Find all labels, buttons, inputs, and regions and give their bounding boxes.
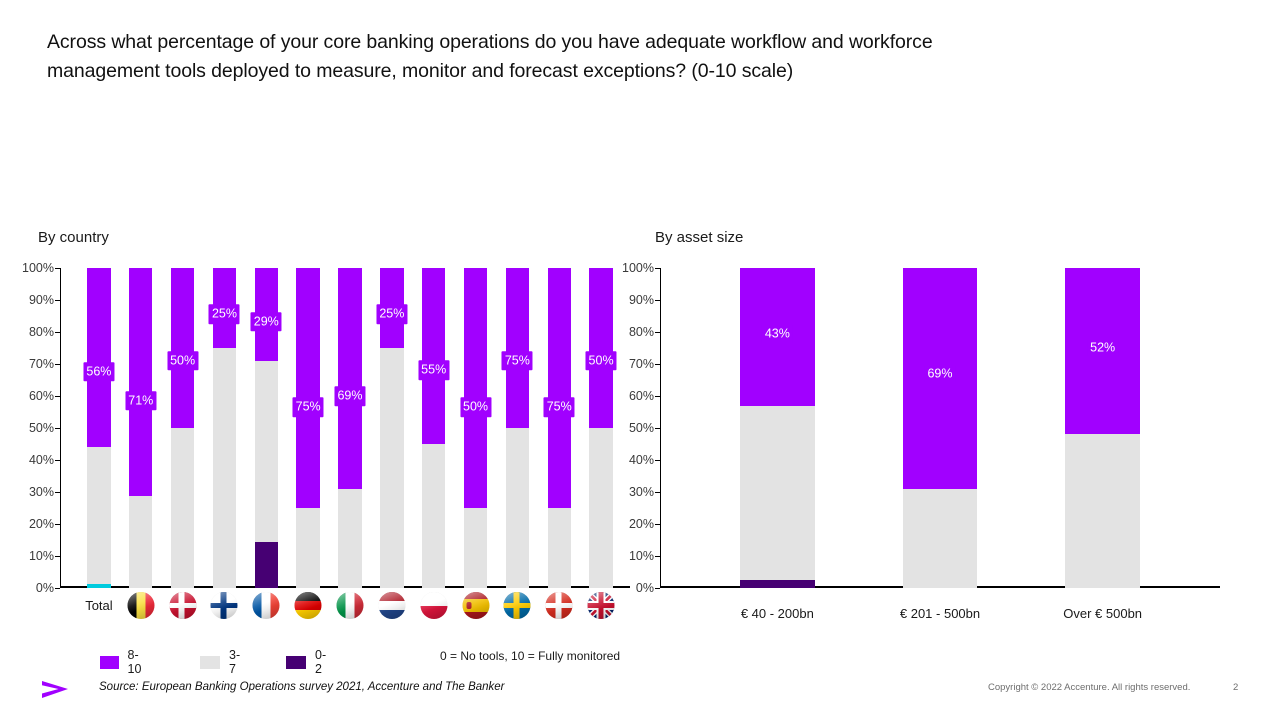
y-axis-tick <box>655 332 660 333</box>
y-axis-tick-label: 70% <box>29 357 54 371</box>
bar-segment-3-7 <box>255 361 278 542</box>
bar-column[interactable] <box>338 268 361 588</box>
country-axis-flags: Total <box>60 592 630 624</box>
x-axis-category-label: € 40 - 200bn <box>741 606 814 621</box>
y-axis-tick-label: 0% <box>36 581 54 595</box>
y-axis-tick-label: 100% <box>622 261 654 275</box>
flag-finland[interactable] <box>211 592 238 619</box>
bar-column[interactable] <box>506 268 529 588</box>
y-axis-tick-label: 0% <box>636 581 654 595</box>
bar-segment-8-10 <box>464 268 487 508</box>
y-axis-tick-label: 20% <box>629 517 654 531</box>
legend-swatch <box>100 656 119 669</box>
bar-segment-8-10 <box>171 268 194 428</box>
legend-item-8-10[interactable]: 8-10 <box>100 648 147 676</box>
copyright-note: Copyright © 2022 Accenture. All rights r… <box>988 682 1190 693</box>
bar-column[interactable] <box>422 268 445 588</box>
bar-data-label: 75% <box>502 351 533 371</box>
legend-label: 8-10 <box>128 648 147 676</box>
y-axis-tick-label: 10% <box>629 549 654 563</box>
y-axis-tick-label: 10% <box>29 549 54 563</box>
legend-note: 0 = No tools, 10 = Fully monitored <box>440 649 620 663</box>
flag-spain[interactable] <box>462 592 489 619</box>
bar-column[interactable] <box>464 268 487 588</box>
legend-item-3-7[interactable]: 3-7 <box>200 648 244 676</box>
y-axis-tick <box>55 364 60 365</box>
y-axis-tick-label: 60% <box>29 389 54 403</box>
flag-gloss <box>169 592 196 619</box>
bar-segment-3-7 <box>740 406 815 580</box>
y-axis-tick <box>655 524 660 525</box>
flag-netherlands[interactable] <box>378 592 405 619</box>
flag-gloss <box>378 592 405 619</box>
bar-data-label: 50% <box>167 351 198 371</box>
y-axis-tick <box>55 556 60 557</box>
y-axis-tick <box>655 300 660 301</box>
bar-segment-0-2 <box>740 580 815 588</box>
bar-segment-3-7 <box>171 428 194 588</box>
flag-gloss <box>504 592 531 619</box>
y-axis-tick <box>655 556 660 557</box>
bars-container: 56%71%50%25%29%75%69%25%55%50%75%75%50% <box>60 268 630 588</box>
bar-segment-3-7 <box>589 428 612 588</box>
x-axis-label-total: Total <box>85 598 112 613</box>
bar-data-label: 52% <box>1087 338 1118 358</box>
y-axis-tick-label: 40% <box>629 453 654 467</box>
flag-sweden[interactable] <box>504 592 531 619</box>
bar-data-label: 50% <box>460 397 491 417</box>
bar-column[interactable] <box>548 268 571 588</box>
bar-segment-3-7 <box>380 348 403 588</box>
accenture-logo-icon <box>40 678 74 702</box>
y-axis-tick-label: 80% <box>629 325 654 339</box>
bar-segment-3-7 <box>506 428 529 588</box>
bar-data-label: 69% <box>924 364 955 384</box>
y-axis-tick <box>55 492 60 493</box>
flag-gloss <box>546 592 573 619</box>
y-axis-tick-label: 60% <box>629 389 654 403</box>
slide: Across what percentage of your core bank… <box>0 0 1280 720</box>
legend-swatch <box>286 656 306 669</box>
bar-data-label: 56% <box>83 362 114 382</box>
legend-label: 3-7 <box>229 648 244 676</box>
y-axis-tick <box>655 364 660 365</box>
bar-segment-3-7 <box>903 489 978 588</box>
bar-data-label: 25% <box>209 305 240 325</box>
y-axis-tick-label: 30% <box>629 485 654 499</box>
source-note: Source: European Banking Operations surv… <box>99 681 505 693</box>
flag-gloss <box>337 592 364 619</box>
bar-segment-8-10 <box>87 268 110 447</box>
bar-segment-8-10 <box>296 268 319 508</box>
bar-data-label: 71% <box>125 391 156 411</box>
y-axis-tick <box>655 268 660 269</box>
bar-data-label: 55% <box>418 360 449 380</box>
bar-segment-8-10 <box>548 268 571 508</box>
y-axis-tick <box>655 460 660 461</box>
y-axis-tick-label: 20% <box>29 517 54 531</box>
flag-france[interactable] <box>253 592 280 619</box>
bar-segment-3-7 <box>87 447 110 585</box>
legend-label: 0-2 <box>315 648 330 676</box>
bar-segment-3-7 <box>1065 434 1140 588</box>
y-axis-tick <box>55 588 60 589</box>
bar-segment-8-10 <box>422 268 445 444</box>
y-axis-tick-label: 50% <box>29 421 54 435</box>
y-axis-tick <box>55 268 60 269</box>
y-axis-tick <box>55 460 60 461</box>
plot-area-by-asset-size: 43%69%52% 0%10%20%30%40%50%60%70%80%90%1… <box>660 268 1220 588</box>
y-axis-tick <box>655 492 660 493</box>
y-axis-tick <box>655 396 660 397</box>
bar-segment-3-7 <box>548 508 571 588</box>
bar-data-label: 50% <box>586 351 617 371</box>
bar-segment-8-10 <box>506 268 529 428</box>
section-heading-by-country: By country <box>38 229 109 246</box>
bar-column[interactable] <box>87 268 110 588</box>
flag-gloss <box>127 592 154 619</box>
flag-poland[interactable] <box>420 592 447 619</box>
page-title: Across what percentage of your core bank… <box>47 28 1047 86</box>
y-axis-tick <box>55 524 60 525</box>
plot-area-by-country: 56%71%50%25%29%75%69%25%55%50%75%75%50% … <box>60 268 630 588</box>
flag-denmark[interactable] <box>169 592 196 619</box>
bar-column[interactable] <box>740 268 815 588</box>
y-axis-tick <box>55 428 60 429</box>
chart-by-country: 56%71%50%25%29%75%69%25%55%50%75%75%50% … <box>60 268 630 588</box>
legend-item-0-2[interactable]: 0-2 <box>286 648 330 676</box>
bar-column[interactable] <box>171 268 194 588</box>
flag-united-kingdom[interactable] <box>588 592 615 619</box>
y-axis-tick-label: 70% <box>629 357 654 371</box>
flag-gloss <box>295 592 322 619</box>
bar-segment-3-7 <box>213 348 236 588</box>
y-axis-tick <box>55 396 60 397</box>
bar-column[interactable] <box>589 268 612 588</box>
bar-segment-3-7 <box>129 496 152 588</box>
section-heading-by-asset-size: By asset size <box>655 229 743 246</box>
flag-gloss <box>253 592 280 619</box>
y-axis-tick <box>655 588 660 589</box>
flag-gloss <box>420 592 447 619</box>
bar-segment-3-7 <box>338 489 361 588</box>
bar-column[interactable] <box>1065 268 1140 588</box>
y-axis-tick-label: 30% <box>29 485 54 499</box>
bar-data-label: 25% <box>376 305 407 325</box>
bar-data-label: 43% <box>762 324 793 344</box>
flag-switzerland[interactable] <box>546 592 573 619</box>
chart-by-asset-size: 43%69%52% 0%10%20%30%40%50%60%70%80%90%1… <box>660 268 1220 588</box>
page-number: 2 <box>1233 682 1238 693</box>
flag-italy[interactable] <box>337 592 364 619</box>
y-axis-tick-label: 40% <box>29 453 54 467</box>
bar-data-label: 75% <box>293 397 324 417</box>
bar-segment-3-7 <box>422 444 445 588</box>
bar-segment-8-10 <box>129 268 152 496</box>
y-axis-tick-label: 80% <box>29 325 54 339</box>
flag-gloss <box>588 592 615 619</box>
bar-column[interactable] <box>296 268 319 588</box>
y-axis-tick-label: 50% <box>629 421 654 435</box>
y-axis-tick <box>55 300 60 301</box>
x-axis-category-label: € 201 - 500bn <box>900 606 980 621</box>
bar-segment-8-10 <box>589 268 612 428</box>
bar-segment-3-7 <box>296 508 319 588</box>
y-axis-tick-label: 90% <box>629 293 654 307</box>
bar-segment-8-10 <box>338 268 361 489</box>
legend-swatch <box>200 656 220 669</box>
bar-segment-highlight <box>87 584 110 588</box>
flag-gloss <box>211 592 238 619</box>
y-axis-tick-label: 100% <box>22 261 54 275</box>
flag-germany[interactable] <box>295 592 322 619</box>
flag-gloss <box>462 592 489 619</box>
bars-container: 43%69%52% <box>660 268 1220 588</box>
flag-belgium[interactable] <box>127 592 154 619</box>
y-axis-tick <box>655 428 660 429</box>
y-axis-tick <box>55 332 60 333</box>
bar-data-label: 69% <box>334 387 365 407</box>
bar-column[interactable] <box>903 268 978 588</box>
bar-data-label: 29% <box>251 312 282 332</box>
bar-segment-0-2 <box>255 542 278 588</box>
y-axis-tick-label: 90% <box>29 293 54 307</box>
bar-segment-3-7 <box>464 508 487 588</box>
bar-column[interactable] <box>129 268 152 588</box>
x-axis-category-label: Over € 500bn <box>1063 606 1142 621</box>
bar-data-label: 75% <box>544 397 575 417</box>
